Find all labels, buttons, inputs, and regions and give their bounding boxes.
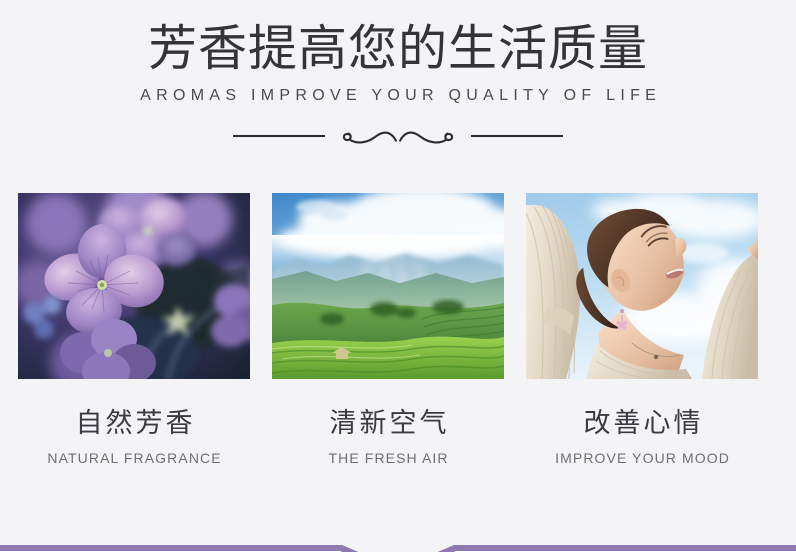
woman-breathing-fresh-air-photo [526, 193, 758, 379]
divider-rule-right [471, 135, 563, 137]
promo-banner: 芳香提高您的生活质量 AROMAS IMPROVE YOUR QUALITY O… [0, 0, 796, 552]
feature-card[interactable]: 改善心情 IMPROVE YOUR MOOD [526, 193, 758, 466]
divider-rule-left [233, 135, 325, 137]
card-caption: NATURAL FRAGRANCE [18, 450, 250, 466]
feature-card[interactable]: 自然芳香 NATURAL FRAGRANCE [18, 193, 250, 466]
card-caption: THE FRESH AIR [272, 450, 504, 466]
page-subtitle: AROMAS IMPROVE YOUR QUALITY OF LIFE [0, 87, 796, 105]
flourish-ornament-icon [337, 123, 459, 149]
card-title: 清新空气 [272, 401, 504, 440]
feature-card[interactable]: 清新空气 THE FRESH AIR [272, 193, 504, 466]
ornamental-divider [0, 123, 796, 149]
card-caption: IMPROVE YOUR MOOD [526, 450, 758, 466]
bottom-accent-bar [0, 520, 796, 552]
purple-hydrangea-flower-photo [18, 193, 250, 379]
card-title: 改善心情 [526, 401, 758, 440]
green-terraced-mountains-photo [272, 193, 504, 379]
card-title: 自然芳香 [18, 401, 250, 440]
banner-header: 芳香提高您的生活质量 AROMAS IMPROVE YOUR QUALITY O… [0, 0, 796, 149]
page-title: 芳香提高您的生活质量 [0, 22, 796, 77]
feature-card-list: 自然芳香 NATURAL FRAGRANCE [18, 193, 758, 466]
